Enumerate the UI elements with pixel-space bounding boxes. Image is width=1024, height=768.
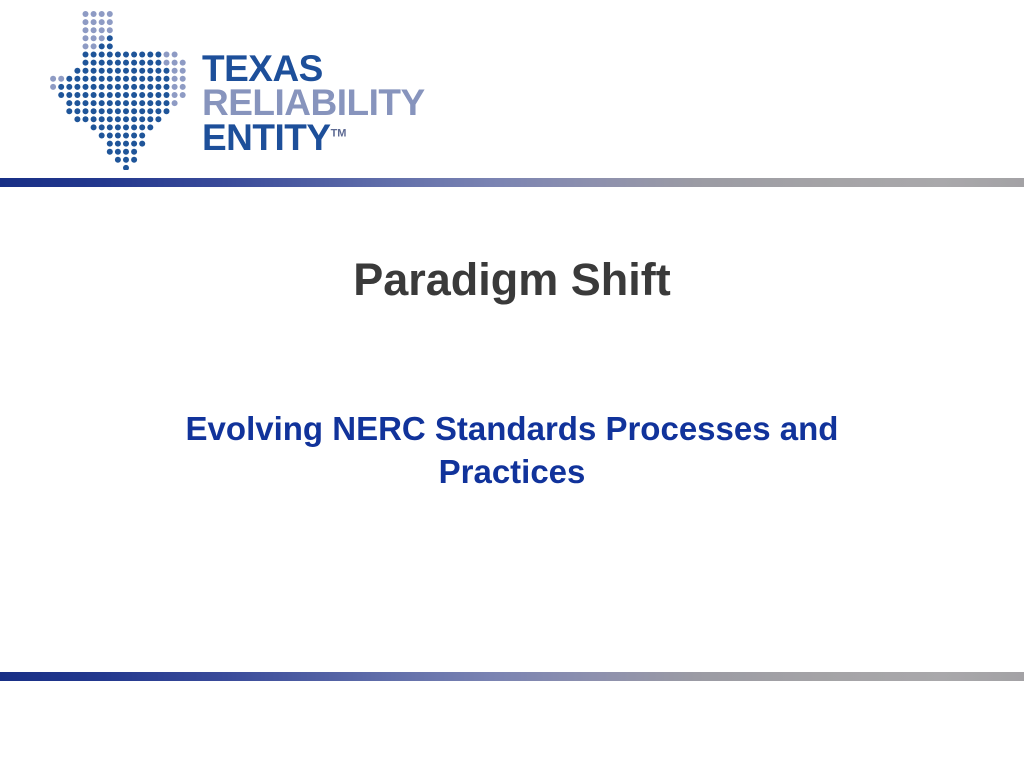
- bottom-gradient-rule: [0, 672, 1024, 681]
- page-title: Paradigm Shift: [0, 254, 1024, 306]
- logo-line-texas: TEXAS: [202, 52, 442, 86]
- logo-line-entity: ENTITYTM: [202, 121, 442, 155]
- logo-entity-text: ENTITY: [202, 117, 331, 158]
- top-gradient-rule: [0, 178, 1024, 187]
- trademark-mark: TM: [331, 127, 347, 139]
- page-subtitle: Evolving NERC Standards Processes and Pr…: [110, 408, 914, 494]
- logo-line-reliability: RELIABILITY: [202, 86, 442, 120]
- logo-wordmark: TEXAS RELIABILITY ENTITYTM: [202, 52, 442, 172]
- texas-dot-map-icon: [42, 10, 207, 170]
- slide-canvas: TEXAS RELIABILITY ENTITYTM Paradigm Shif…: [0, 0, 1024, 768]
- texas-reliability-entity-logo: TEXAS RELIABILITY ENTITYTM: [42, 10, 442, 170]
